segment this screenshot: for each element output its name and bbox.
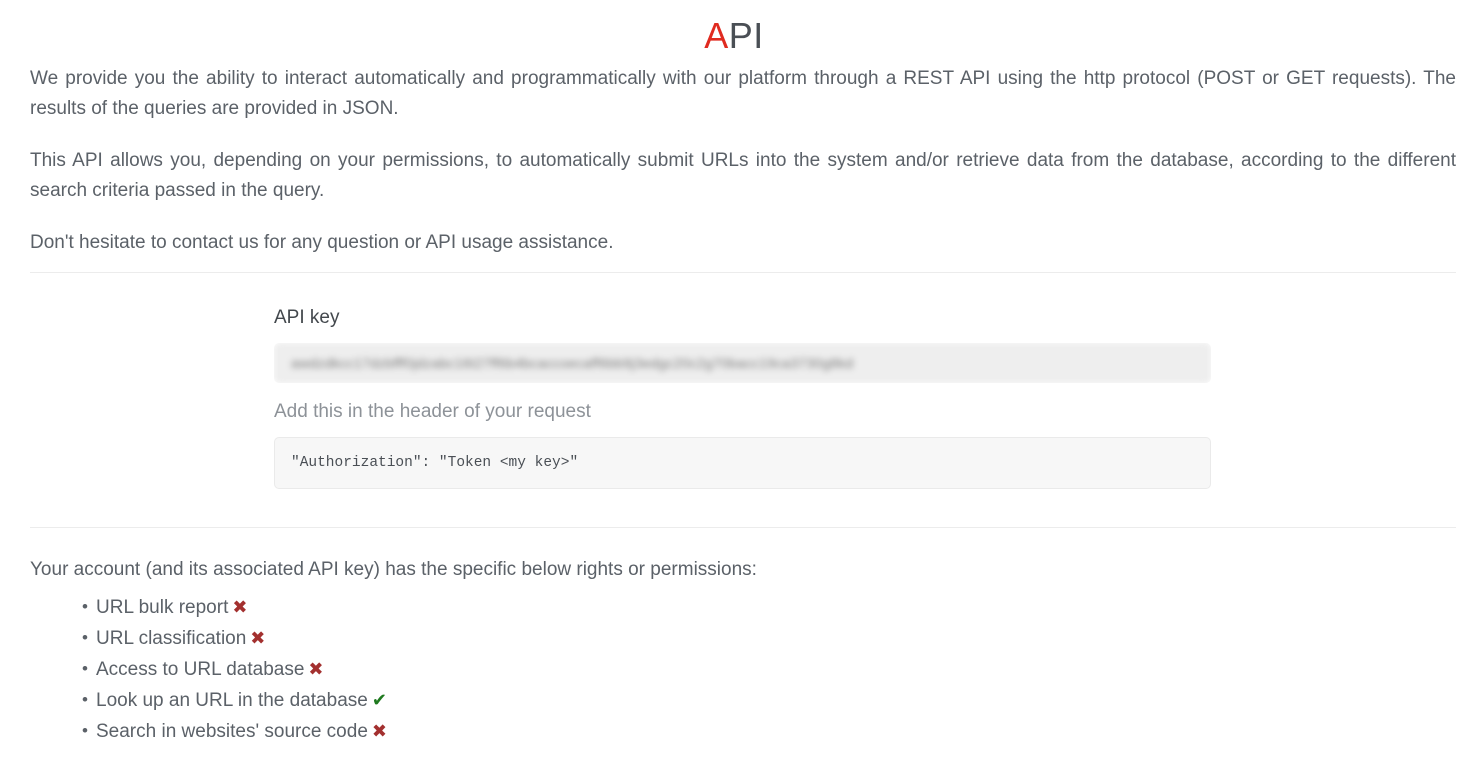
intro-section: We provide you the ability to interact a…	[0, 64, 1468, 258]
section-divider-bottom	[30, 527, 1456, 528]
api-page: API We provide you the ability to intera…	[0, 0, 1468, 759]
api-key-input-wrapper	[274, 343, 1211, 383]
list-item: Look up an URL in the database✔	[82, 685, 1456, 716]
permission-label: Look up an URL in the database	[96, 690, 368, 711]
api-key-help-text: Add this in the header of your request	[274, 399, 1468, 425]
denied-icon: ✖	[304, 659, 323, 679]
intro-paragraph-2: This API allows you, depending on your p…	[30, 146, 1456, 206]
permissions-intro: Your account (and its associated API key…	[30, 556, 1456, 584]
permissions-list: URL bulk report✖ URL classification✖ Acc…	[30, 592, 1456, 747]
list-item: URL classification✖	[82, 623, 1456, 654]
list-item: Search in websites' source code✖	[82, 716, 1456, 747]
denied-icon: ✖	[368, 721, 387, 741]
permission-label: URL bulk report	[96, 597, 228, 618]
permission-label: URL classification	[96, 628, 246, 649]
denied-icon: ✖	[228, 597, 247, 617]
permission-label: Access to URL database	[96, 659, 304, 680]
granted-icon: ✔	[368, 690, 387, 710]
api-key-section: API key Add this in the header of your r…	[0, 273, 1468, 489]
intro-paragraph-1: We provide you the ability to interact a…	[30, 64, 1456, 124]
api-key-input[interactable]	[274, 343, 1211, 383]
denied-icon: ✖	[246, 628, 265, 648]
api-key-label: API key	[274, 305, 1468, 331]
page-title: API	[0, 0, 1468, 64]
permission-label: Search in websites' source code	[96, 721, 368, 742]
list-item: Access to URL database✖	[82, 654, 1456, 685]
authorization-header-code: "Authorization": "Token <my key>"	[274, 437, 1211, 489]
intro-paragraph-3: Don't hesitate to contact us for any que…	[30, 228, 1456, 258]
page-title-accent-letter: A	[704, 15, 729, 56]
page-title-rest: PI	[729, 15, 764, 56]
list-item: URL bulk report✖	[82, 592, 1456, 623]
permissions-section: Your account (and its associated API key…	[0, 556, 1468, 747]
